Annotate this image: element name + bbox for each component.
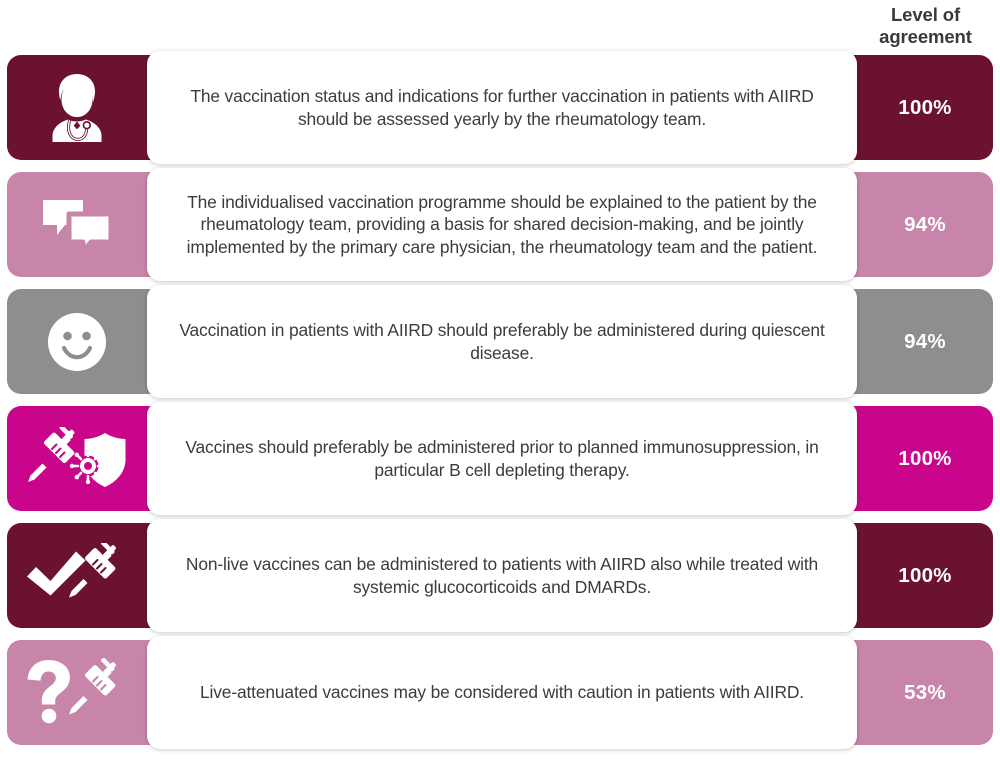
agreement-value: 100%: [898, 564, 951, 588]
icon-zone: [7, 406, 147, 511]
statement-card: Vaccines should preferably be administer…: [147, 402, 857, 515]
recommendation-row: The individualised vaccination programme…: [7, 172, 993, 277]
statement-text: Vaccination in patients with AIIRD shoul…: [163, 319, 841, 364]
syringe-shield-virus-icon: [25, 427, 129, 491]
statement-card: The vaccination status and indications f…: [147, 51, 857, 164]
statement-text: Live-attenuated vaccines may be consider…: [200, 681, 804, 704]
agreement-value: 94%: [904, 330, 946, 354]
agreement-value: 100%: [898, 96, 951, 120]
agreement-value: 94%: [904, 213, 946, 237]
statement-text: The vaccination status and indications f…: [163, 85, 841, 130]
statement-card: Vaccination in patients with AIIRD shoul…: [147, 285, 857, 398]
recommendation-row: Vaccination in patients with AIIRD shoul…: [7, 289, 993, 394]
recommendation-rows: The vaccination status and indications f…: [7, 55, 993, 745]
speech-bubbles-icon: [39, 196, 115, 254]
agreement-zone: 100%: [857, 523, 993, 628]
icon-zone: [7, 55, 147, 160]
agreement-zone: 94%: [857, 172, 993, 277]
level-of-agreement-header: Level of agreement: [858, 0, 993, 52]
agreement-value: 100%: [898, 447, 951, 471]
statement-text: The individualised vaccination programme…: [163, 191, 841, 259]
recommendation-row: Non-live vaccines can be administered to…: [7, 523, 993, 628]
icon-zone: [7, 289, 147, 394]
statement-text: Non-live vaccines can be administered to…: [163, 553, 841, 598]
statement-card: The individualised vaccination programme…: [147, 168, 857, 281]
icon-zone: [7, 640, 147, 745]
recommendation-row: The vaccination status and indications f…: [7, 55, 993, 160]
agreement-zone: 53%: [857, 640, 993, 745]
agreement-zone: 100%: [857, 406, 993, 511]
statement-card: Non-live vaccines can be administered to…: [147, 519, 857, 632]
recommendation-row: Live-attenuated vaccines may be consider…: [7, 640, 993, 745]
smiley-face-icon: [46, 311, 108, 373]
vaccination-recommendations-infographic: Level of agreement: [0, 0, 1000, 759]
statement-card: Live-attenuated vaccines may be consider…: [147, 636, 857, 749]
agreement-value: 53%: [904, 681, 946, 705]
checkmark-syringe-icon: [23, 543, 131, 609]
recommendation-row: Vaccines should preferably be administer…: [7, 406, 993, 511]
statement-text: Vaccines should preferably be administer…: [163, 436, 841, 481]
header-line-2: agreement: [879, 26, 972, 48]
agreement-zone: 100%: [857, 55, 993, 160]
doctor-nurse-icon: [43, 71, 111, 145]
header-line-1: Level of: [891, 4, 960, 26]
question-mark-syringe-icon: [23, 658, 131, 728]
icon-zone: [7, 172, 147, 277]
agreement-zone: 94%: [857, 289, 993, 394]
icon-zone: [7, 523, 147, 628]
